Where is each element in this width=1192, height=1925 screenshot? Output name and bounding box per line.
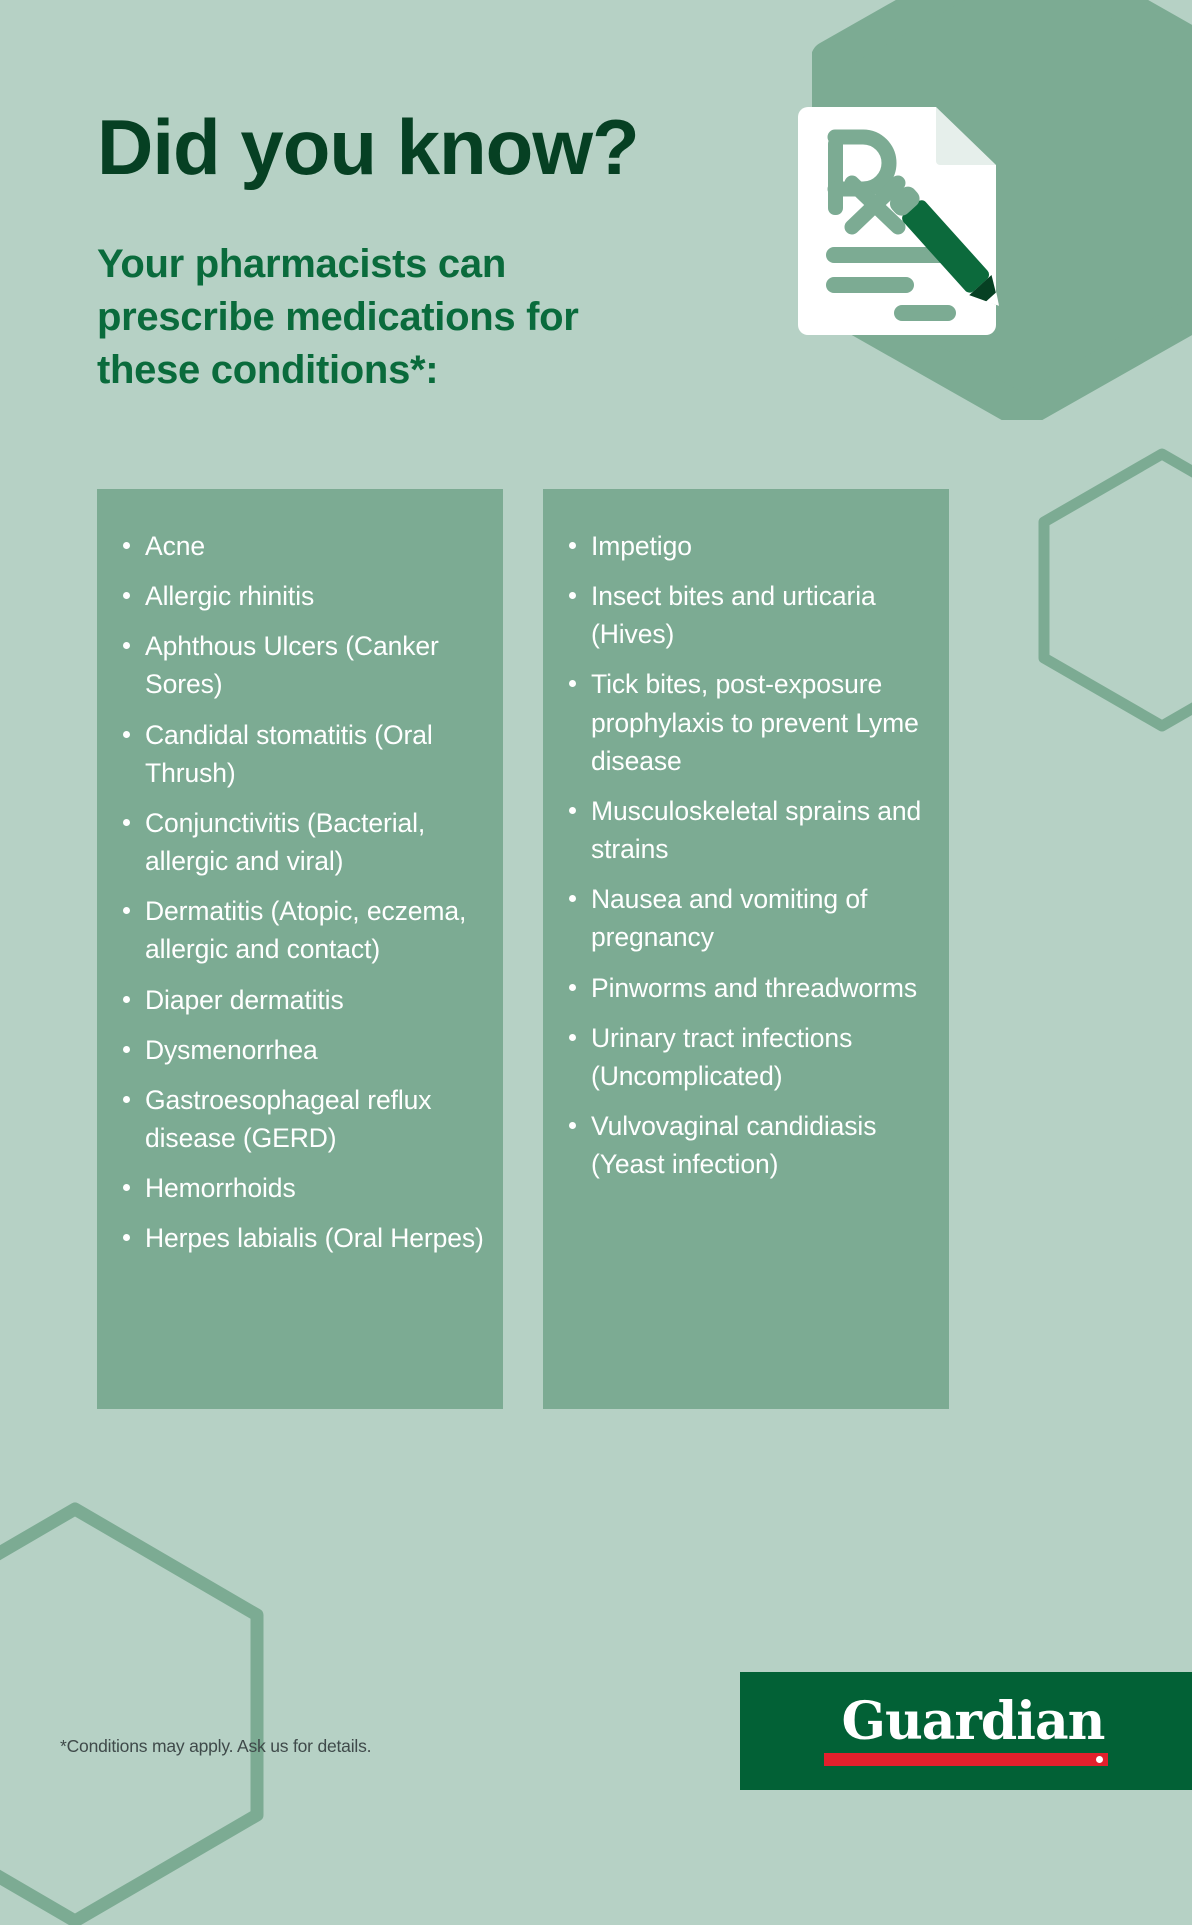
guardian-wordmark: Guardian [842, 1696, 1105, 1748]
hexagon-outline-icon [0, 1495, 285, 1925]
condition-item: Musculoskeletal sprains and strains [561, 792, 931, 868]
condition-item: Dysmenorrhea [115, 1031, 485, 1069]
registered-mark-icon [1096, 1756, 1103, 1763]
conditions-panel-right: ImpetigoInsect bites and urticaria (Hive… [543, 489, 949, 1409]
condition-item: Nausea and vomiting of pregnancy [561, 880, 931, 956]
condition-item: Allergic rhinitis [115, 577, 485, 615]
footnote: *Conditions may apply. Ask us for detail… [60, 1736, 371, 1757]
condition-item: Candidal stomatitis (Oral Thrush) [115, 716, 485, 792]
condition-item: Aphthous Ulcers (Canker Sores) [115, 627, 485, 703]
condition-item: Gastroesophageal reflux disease (GERD) [115, 1081, 485, 1157]
rx-prescription-icon [790, 95, 1020, 350]
condition-item: Dermatitis (Atopic, eczema, allergic and… [115, 892, 485, 968]
condition-item: Herpes labialis (Oral Herpes) [115, 1219, 485, 1257]
page-title: Did you know? [97, 108, 777, 186]
condition-item: Insect bites and urticaria (Hives) [561, 577, 931, 653]
condition-item: Acne [115, 527, 485, 565]
condition-item: Pinworms and threadworms [561, 969, 931, 1007]
condition-item: Impetigo [561, 527, 931, 565]
condition-item: Urinary tract infections (Uncomplicated) [561, 1019, 931, 1095]
conditions-list-left: AcneAllergic rhinitisAphthous Ulcers (Ca… [115, 527, 485, 1258]
hexagon-outline-icon [1012, 440, 1192, 740]
conditions-panel-left: AcneAllergic rhinitisAphthous Ulcers (Ca… [97, 489, 503, 1409]
page-subtitle: Your pharmacists can prescribe medicatio… [97, 238, 617, 396]
condition-item: Tick bites, post-exposure prophylaxis to… [561, 665, 931, 779]
condition-item: Conjunctivitis (Bacterial, allergic and … [115, 804, 485, 880]
guardian-red-rule [824, 1753, 1108, 1766]
header: Did you know? Your pharmacists can presc… [97, 108, 777, 396]
condition-item: Hemorrhoids [115, 1169, 485, 1207]
condition-item: Diaper dermatitis [115, 981, 485, 1019]
condition-item: Vulvovaginal candidiasis (Yeast infectio… [561, 1107, 931, 1183]
guardian-logo: Guardian [740, 1672, 1192, 1790]
conditions-list-right: ImpetigoInsect bites and urticaria (Hive… [561, 527, 931, 1183]
